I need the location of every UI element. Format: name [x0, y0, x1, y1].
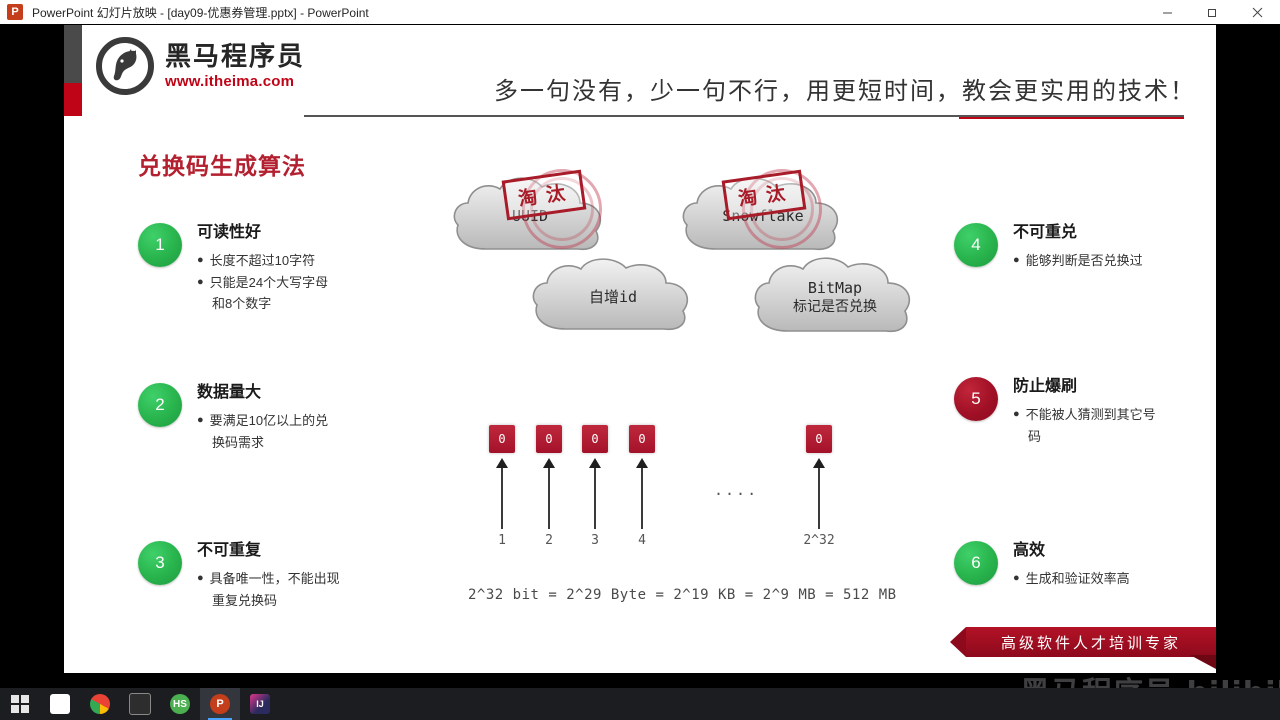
feature-body-5: 防止爆刷 ● 不能被人猜测到其它号 码 [1013, 377, 1156, 447]
bit-index-4: 4 [629, 533, 655, 548]
terminal-icon [129, 693, 151, 715]
feature-bullet-6-1: ● 生成和验证效率高 [1013, 568, 1130, 589]
feature-bullet-5-cont: 码 [1013, 426, 1156, 447]
feature-body-1: 可读性好 ● 长度不超过10字符 ● 只能是24个大写字母 和8个数字 [197, 223, 328, 315]
bullet-icon: ● [197, 568, 204, 589]
feature-body-3: 不可重复 ● 具备唯一性，不能出现 重复兑换码 [197, 541, 340, 611]
feature-bullet-1-1: ● 长度不超过10字符 [197, 250, 328, 271]
feature-title-6: 高效 [1013, 541, 1130, 560]
bit-cell-1: 0 [489, 425, 515, 453]
powerpoint-icon: P [210, 694, 230, 714]
stamp-uuid: 淘汰 [504, 175, 584, 215]
feature-bullet-5-1: ● 不能被人猜测到其它号 [1013, 404, 1156, 425]
intellij-button[interactable]: IJ [240, 688, 280, 720]
feature-item-2: 2 数据量大 ● 要满足10亿以上的兑 换码需求 [138, 383, 328, 453]
taskbar: HS P IJ [0, 688, 1280, 720]
bit-arrow-1 [501, 467, 503, 529]
restore-button[interactable] [1190, 0, 1235, 24]
close-button[interactable] [1235, 0, 1280, 24]
bit-arrow-3 [594, 467, 596, 529]
bullet-icon: ● [1013, 568, 1020, 589]
feature-title-4: 不可重兑 [1013, 223, 1143, 242]
bullet-icon: ● [1013, 250, 1020, 271]
feature-badge-1: 1 [138, 223, 182, 267]
decor-red-bar [64, 83, 82, 116]
feature-bullet-1-cont: 和8个数字 [197, 293, 328, 314]
photos-icon [50, 694, 70, 714]
header-divider-red [959, 117, 1184, 119]
start-button[interactable] [0, 688, 40, 720]
screen: PowerPoint 幻灯片放映 - [day09-优惠券管理.pptx] - … [0, 0, 1280, 720]
feature-badge-5: 5 [954, 377, 998, 421]
minimize-button[interactable] [1145, 0, 1190, 24]
cloud-autoid: 自增id [524, 253, 702, 341]
feature-bullet-text: 不能被人猜测到其它号 [1026, 404, 1156, 425]
feature-body-2: 数据量大 ● 要满足10亿以上的兑 换码需求 [197, 383, 328, 453]
intellij-icon: IJ [250, 694, 270, 714]
bullet-icon: ● [197, 272, 204, 293]
decor-gray-bar [64, 25, 82, 83]
feature-body-4: 不可重兑 ● 能够判断是否兑换过 [1013, 223, 1143, 272]
feature-body-6: 高效 ● 生成和验证效率高 [1013, 541, 1130, 590]
feature-bullet-text: 只能是24个大写字母 [210, 272, 328, 293]
bit-cell-5: 0 [806, 425, 832, 453]
feature-bullet-text: 生成和验证效率高 [1026, 568, 1130, 589]
feature-bullet-text: 长度不超过10字符 [210, 250, 315, 271]
bit-index-5: 2^32 [791, 533, 847, 548]
feature-bullet-3-1: ● 具备唯一性，不能出现 [197, 568, 340, 589]
brand-url: www.itheima.com [165, 73, 305, 90]
feature-item-5: 5 防止爆刷 ● 不能被人猜测到其它号 码 [954, 377, 1156, 447]
feature-item-3: 3 不可重复 ● 具备唯一性，不能出现 重复兑换码 [138, 541, 340, 611]
feature-title-3: 不可重复 [197, 541, 340, 560]
windows-logo-icon [11, 695, 29, 713]
terminal-button[interactable] [120, 688, 160, 720]
bit-arrow-4 [641, 467, 643, 529]
bit-cell-2: 0 [536, 425, 562, 453]
feature-bullet-text: 具备唯一性，不能出现 [210, 568, 340, 589]
feature-bullet-2-cont: 换码需求 [197, 432, 328, 453]
feature-item-1: 1 可读性好 ● 长度不超过10字符 ● 只能是24个大写字母 和8个数字 [138, 223, 328, 315]
feature-item-6: 6 高效 ● 生成和验证效率高 [954, 541, 1130, 590]
brand-logo: 黑马程序员 www.itheima.com [96, 37, 305, 95]
bit-cell-3: 0 [582, 425, 608, 453]
bitmap-formula: 2^32 bit = 2^29 Byte = 2^19 KB = 2^9 MB … [468, 587, 897, 603]
bit-index-2: 2 [536, 533, 562, 548]
cloud-bitmap: BitMap 标记是否兑换 [746, 251, 924, 343]
footer-ribbon: 高级软件人才培训专家 [966, 627, 1216, 657]
bullet-icon: ● [1013, 404, 1020, 425]
ribbon-tail [950, 627, 966, 657]
feature-badge-6: 6 [954, 541, 998, 585]
bit-index-3: 3 [582, 533, 608, 548]
feature-bullet-text: 能够判断是否兑换过 [1026, 250, 1143, 271]
window-controls [1145, 0, 1280, 24]
feature-title-5: 防止爆刷 [1013, 377, 1156, 396]
feature-badge-2: 2 [138, 383, 182, 427]
slide-tagline: 多一句没有，少一句不行，用更短时间，教会更实用的技术！ [494, 71, 1184, 106]
bit-index-1: 1 [489, 533, 515, 548]
bullet-icon: ● [197, 410, 204, 431]
feature-item-4: 4 不可重兑 ● 能够判断是否兑换过 [954, 223, 1143, 272]
brand-text: 黑马程序员 www.itheima.com [165, 42, 305, 90]
photos-button[interactable] [40, 688, 80, 720]
hbuilder-button[interactable]: HS [160, 688, 200, 720]
powerpoint-button[interactable]: P [200, 688, 240, 720]
slide-canvas[interactable]: 黑马程序员 www.itheima.com 多一句没有，少一句不行，用更短时间，… [64, 25, 1216, 673]
feature-bullet-text: 要满足10亿以上的兑 [210, 410, 328, 431]
chrome-icon [90, 694, 110, 714]
stamp-snowflake: 淘汰 [724, 175, 804, 215]
feature-bullet-4-1: ● 能够判断是否兑换过 [1013, 250, 1143, 271]
feature-bullet-1-2: ● 只能是24个大写字母 [197, 272, 328, 293]
feature-badge-4: 4 [954, 223, 998, 267]
powerpoint-icon [7, 4, 23, 20]
window-title: PowerPoint 幻灯片放映 - [day09-优惠券管理.pptx] - … [32, 4, 369, 21]
chrome-button[interactable] [80, 688, 120, 720]
feature-title-2: 数据量大 [197, 383, 328, 402]
slide-title: 兑换码生成算法 [138, 147, 306, 181]
feature-badge-3: 3 [138, 541, 182, 585]
brand-name: 黑马程序员 [165, 42, 305, 71]
bit-cell-4: 0 [629, 425, 655, 453]
window-titlebar: PowerPoint 幻灯片放映 - [day09-优惠券管理.pptx] - … [0, 0, 1280, 25]
feature-bullet-2-1: ● 要满足10亿以上的兑 [197, 410, 328, 431]
horse-head-icon [96, 37, 154, 95]
bit-arrow-2 [548, 467, 550, 529]
ribbon-fold [1190, 655, 1216, 669]
bullet-icon: ● [197, 250, 204, 271]
bit-ellipsis: .... [714, 481, 758, 499]
hs-icon: HS [170, 694, 190, 714]
bit-arrow-5 [818, 467, 820, 529]
feature-bullet-3-cont: 重复兑换码 [197, 590, 340, 611]
feature-title-1: 可读性好 [197, 223, 328, 242]
